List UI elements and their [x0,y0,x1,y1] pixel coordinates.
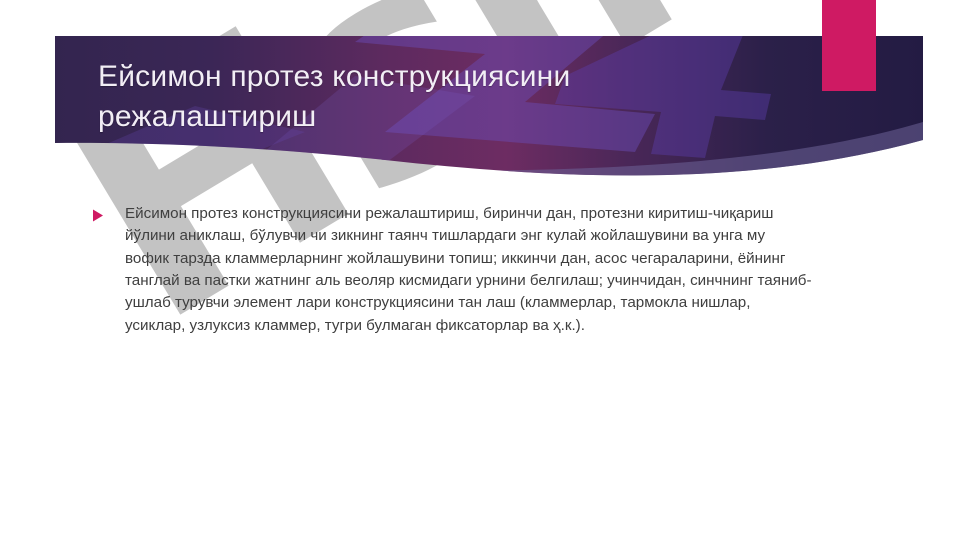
presentation-slide: Hsm24 [0,0,961,540]
body-paragraph: Ейсимон протез конструкциясини режалашти… [125,203,812,337]
page-title: Ейсимон протез конструкциясини режалашти… [98,57,738,136]
accent-block [822,0,876,91]
triangle-right-icon [92,209,108,222]
content-bullet-item: Ейсимон протез конструкциясини режалашти… [92,203,812,337]
